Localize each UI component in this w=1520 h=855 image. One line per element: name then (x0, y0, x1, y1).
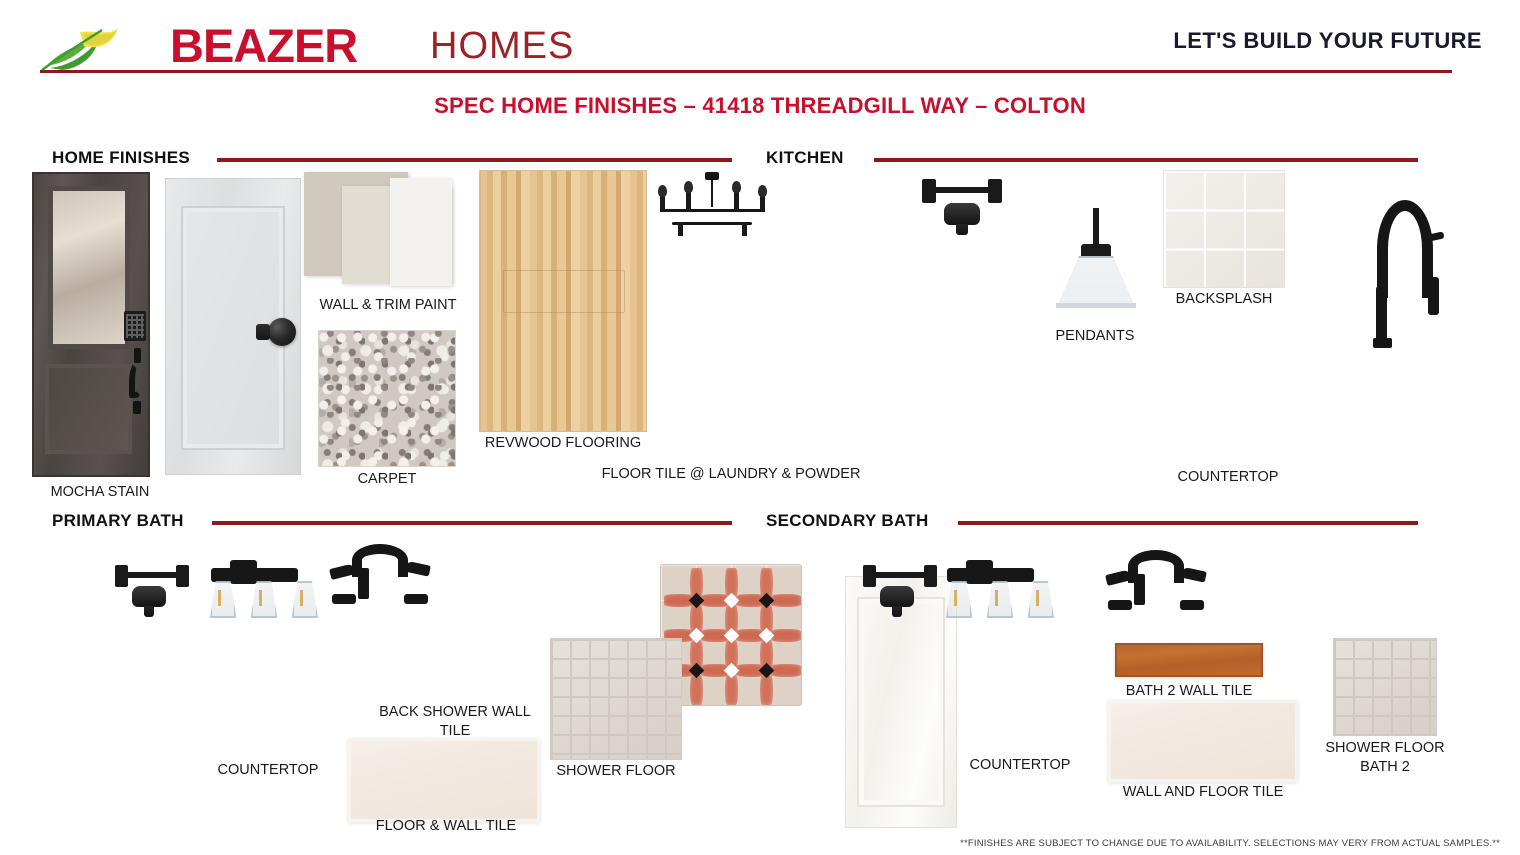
chandelier-arm-lower (672, 222, 751, 225)
caption-primary-shower-floor: SHOWER FLOOR (525, 763, 707, 780)
faucet-handle-left (329, 563, 357, 580)
leaf-logo-icon (40, 24, 130, 72)
caption-kitchen-countertop: COUNTERTOP (1133, 469, 1323, 486)
caption-pendants: PENDANTS (1000, 328, 1190, 345)
caption-mocha-stain: MOCHA STAIN (0, 484, 200, 501)
pendant-glass-shade (1057, 256, 1134, 306)
chandelier-stem (711, 179, 713, 208)
section-header-kitchen: KITCHEN (766, 148, 1418, 170)
caption-wall-trim-paint: WALL & TRIM PAINT (288, 297, 488, 314)
section-header-secondary-bath: SECONDARY BATH (766, 511, 1418, 533)
chandelier-bulb (732, 181, 741, 193)
cabinet-knob-icon (944, 203, 980, 225)
cabinet-white-panel (857, 597, 945, 807)
section-header-home-finishes: HOME FINISHES (52, 148, 732, 170)
keypad-buttons (126, 314, 144, 338)
vanity-light-shade (210, 581, 236, 618)
vanity-light-body (230, 560, 256, 584)
vanity-light-shade (946, 581, 972, 618)
section-label-home-finishes: HOME FINISHES (52, 148, 190, 168)
caption-backsplash: BACKSPLASH (1129, 291, 1319, 308)
finishes-board: BEAZER HOMES LET'S BUILD YOUR FUTURE SPE… (0, 0, 1520, 855)
door-knob-icon (268, 318, 296, 346)
secondary-bath-faucet-icon (1106, 548, 1206, 610)
faucet-handle-left (1105, 569, 1133, 586)
faucet-escutcheon-left (1108, 600, 1132, 610)
chandelier-candle (734, 192, 739, 212)
faucet-escutcheon-right (404, 594, 428, 604)
vanity-light-bulb (259, 590, 262, 606)
handleset-base (133, 401, 141, 414)
section-header-primary-bath: PRIMARY BATH (52, 511, 732, 533)
faucet-escutcheon-right (1180, 600, 1204, 610)
caption-carpet: CARPET (287, 471, 487, 488)
section-label-primary-bath: PRIMARY BATH (52, 511, 184, 531)
revwood-plank-swatch (479, 170, 647, 432)
vanity-light-shade (987, 581, 1013, 618)
faucet-escutcheon-left (332, 594, 356, 604)
secondary-bath-wall-floor-tile-swatch (1108, 700, 1298, 782)
tile-petal-shape (771, 664, 801, 677)
pendant-rod (1093, 208, 1098, 248)
chandelier-arm-upper (660, 209, 764, 212)
page-title: SPEC HOME FINISHES – 41418 THREADGILL WA… (0, 93, 1520, 119)
door-glass-panel (48, 186, 130, 349)
paint-chip-stack (304, 172, 469, 290)
faucet-base-plate (1373, 338, 1392, 348)
door-lower-panel (45, 364, 132, 454)
tile-petal-shape (771, 629, 801, 642)
tile-petal-shape (760, 675, 773, 705)
secondary-bath-vanity-light-icon (940, 556, 1060, 622)
kitchen-faucet-icon (1373, 200, 1445, 348)
vanity-light-body (966, 560, 992, 584)
section-label-kitchen: KITCHEN (766, 148, 844, 168)
carpet-swatch (318, 330, 456, 467)
caption-floor-tile-laundry-powder: FLOOR TILE @ LAUNDRY & POWDER (600, 466, 862, 483)
caption-shower-floor-bath2: SHOWER FLOOR BATH 2 (1306, 739, 1464, 777)
pull-post-right (988, 179, 1003, 203)
caption-wall-and-floor-tile: WALL AND FLOOR TILE (1110, 784, 1296, 801)
faucet-column (358, 568, 369, 599)
caption-back-shower-wall-tile: BACK SHOWER WALL TILE (373, 703, 537, 741)
section-rule-secondary-bath (958, 521, 1418, 525)
chandelier-candle (678, 222, 683, 236)
section-rule-home-finishes (217, 158, 732, 162)
tile-petal-shape (771, 594, 801, 607)
chandelier-bulb (758, 185, 767, 197)
handleset-lever (129, 361, 143, 398)
primary-bath-vanity-light-icon (204, 556, 324, 622)
primary-bath-faucet-icon (330, 542, 430, 604)
section-label-secondary-bath: SECONDARY BATH (766, 511, 929, 531)
cabinet-knob-icon (880, 586, 914, 607)
caption-floor-and-wall-tile: FLOOR & WALL TILE (354, 818, 538, 835)
chandelier-candle (742, 222, 747, 236)
vanity-light-bulb (1036, 590, 1039, 606)
tile-petal-shape (725, 675, 738, 705)
pendant-socket (1081, 244, 1111, 257)
faucet-column (1134, 574, 1145, 605)
door-handleset-icon (126, 348, 148, 414)
primary-bath-shower-floor-swatch (550, 638, 682, 760)
primary-bath-floor-wall-tile-swatch (348, 738, 540, 822)
cabinet-knob-icon (132, 586, 166, 607)
vanity-light-bulb (300, 590, 303, 606)
backsplash-tile-swatch (1163, 170, 1285, 288)
paint-chip-light (390, 178, 452, 286)
chandelier-candle (660, 196, 665, 212)
chandelier-bulb (684, 181, 693, 193)
section-rule-primary-bath (212, 521, 732, 525)
vanity-light-bulb (218, 590, 221, 606)
cabinet-bar-pull-icon (858, 565, 942, 587)
caption-revwood-flooring: REVWOOD FLOORING (463, 435, 663, 452)
brand-tagline: LET'S BUILD YOUR FUTURE (1173, 28, 1482, 54)
faucet-sprayhead (1428, 277, 1439, 315)
pull-post-right (176, 565, 189, 587)
chandelier-candle (686, 192, 691, 212)
caption-bath2-wall-tile: BATH 2 WALL TILE (1098, 683, 1280, 700)
caption-secondary-bath-countertop: COUNTERTOP (930, 757, 1110, 774)
faucet-gooseneck (1377, 200, 1433, 298)
disclaimer-text: **FINISHES ARE SUBJECT TO CHANGE DUE TO … (960, 838, 1500, 849)
tile-petal-shape (690, 675, 703, 705)
brand-name-primary: BEAZER (170, 18, 357, 73)
header-divider (40, 70, 1452, 73)
caption-primary-bath-countertop: COUNTERTOP (178, 762, 358, 779)
pull-post-right (924, 565, 937, 587)
cabinet-bar-pull-icon (110, 565, 194, 587)
vanity-light-shade (292, 581, 318, 618)
vanity-light-bulb (995, 590, 998, 606)
dining-chandelier-icon (650, 172, 774, 282)
cabinet-bar-pull-icon (916, 179, 1008, 203)
chandelier-candle (760, 196, 765, 212)
kitchen-pendant-icon (1052, 208, 1140, 308)
section-rule-kitchen (874, 158, 1418, 162)
vanity-light-bulb (954, 590, 957, 606)
vanity-light-shade (251, 581, 277, 618)
vanity-light-shade (1028, 581, 1054, 618)
chandelier-bulb (658, 185, 667, 197)
brand-name-secondary: HOMES (430, 25, 574, 68)
door-keypad-icon (124, 311, 146, 341)
beazer-homes-logo: BEAZER HOMES (40, 14, 560, 72)
pendant-shade-rim (1056, 303, 1137, 308)
bath2-shower-floor-swatch (1333, 638, 1437, 736)
bath2-wall-tile-swatch (1115, 643, 1263, 677)
